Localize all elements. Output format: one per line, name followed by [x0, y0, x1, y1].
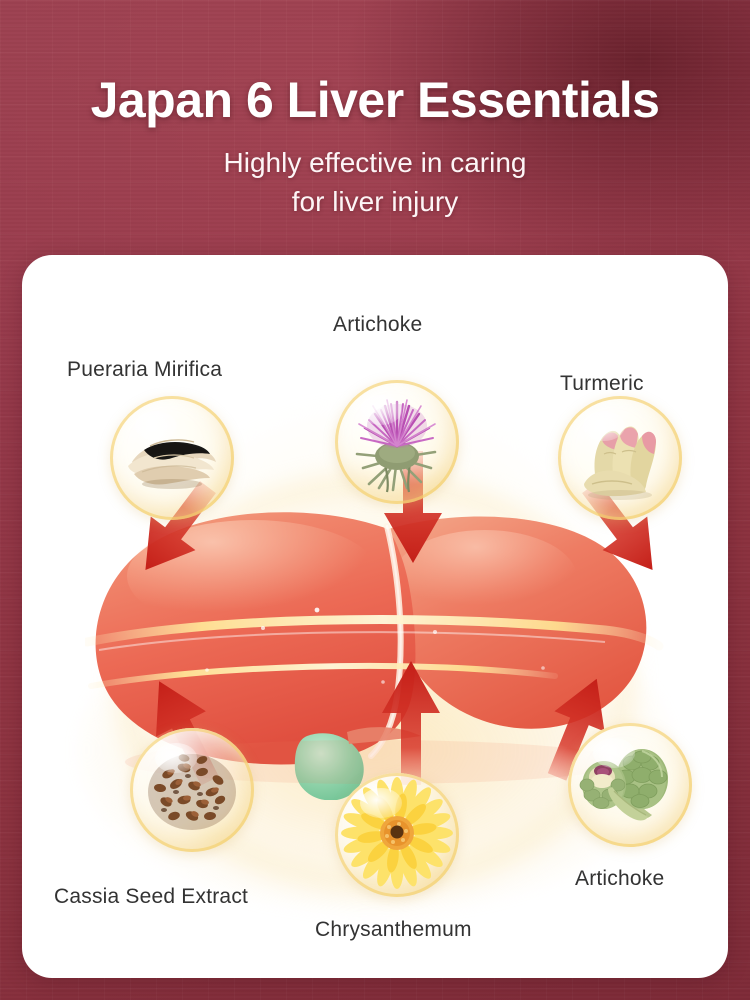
ingredient-diagram-card: Pueraria Mirifica Artichoke Turmeric Cas…	[22, 255, 728, 978]
milk-thistle-flower-icon	[335, 380, 459, 504]
ingredient-bubble-chrysanthemum[interactable]	[335, 773, 459, 897]
label-pueraria-mirifica: Pueraria Mirifica	[67, 358, 222, 382]
label-turmeric: Turmeric	[560, 372, 644, 396]
page-title: Japan 6 Liver Essentials	[91, 74, 660, 127]
ingredient-bubble-cassia-seed-extract[interactable]	[130, 728, 254, 852]
subtitle-line-2: for liver injury	[224, 182, 527, 222]
artichoke-head-icon	[568, 723, 692, 847]
turmeric-rhizome-icon	[558, 396, 682, 520]
subtitle-line-1: Highly effective in caring	[224, 143, 527, 183]
label-artichoke-bottom: Artichoke	[575, 867, 664, 891]
label-chrysanthemum: Chrysanthemum	[315, 918, 472, 942]
ingredient-bubble-pueraria-mirifica[interactable]	[110, 396, 234, 520]
page-subtitle: Highly effective in caring for liver inj…	[224, 143, 527, 223]
label-artichoke-top: Artichoke	[333, 313, 422, 337]
cassia-seeds-icon	[130, 728, 254, 852]
header: Japan 6 Liver Essentials Highly effectiv…	[0, 0, 750, 255]
label-cassia-seed-extract: Cassia Seed Extract	[54, 885, 248, 909]
root-slices-icon	[110, 396, 234, 520]
ingredient-bubble-artichoke-top[interactable]	[335, 380, 459, 504]
yellow-flower-icon	[335, 773, 459, 897]
ingredient-bubble-artichoke-bottom[interactable]	[568, 723, 692, 847]
ingredient-bubble-turmeric[interactable]	[558, 396, 682, 520]
